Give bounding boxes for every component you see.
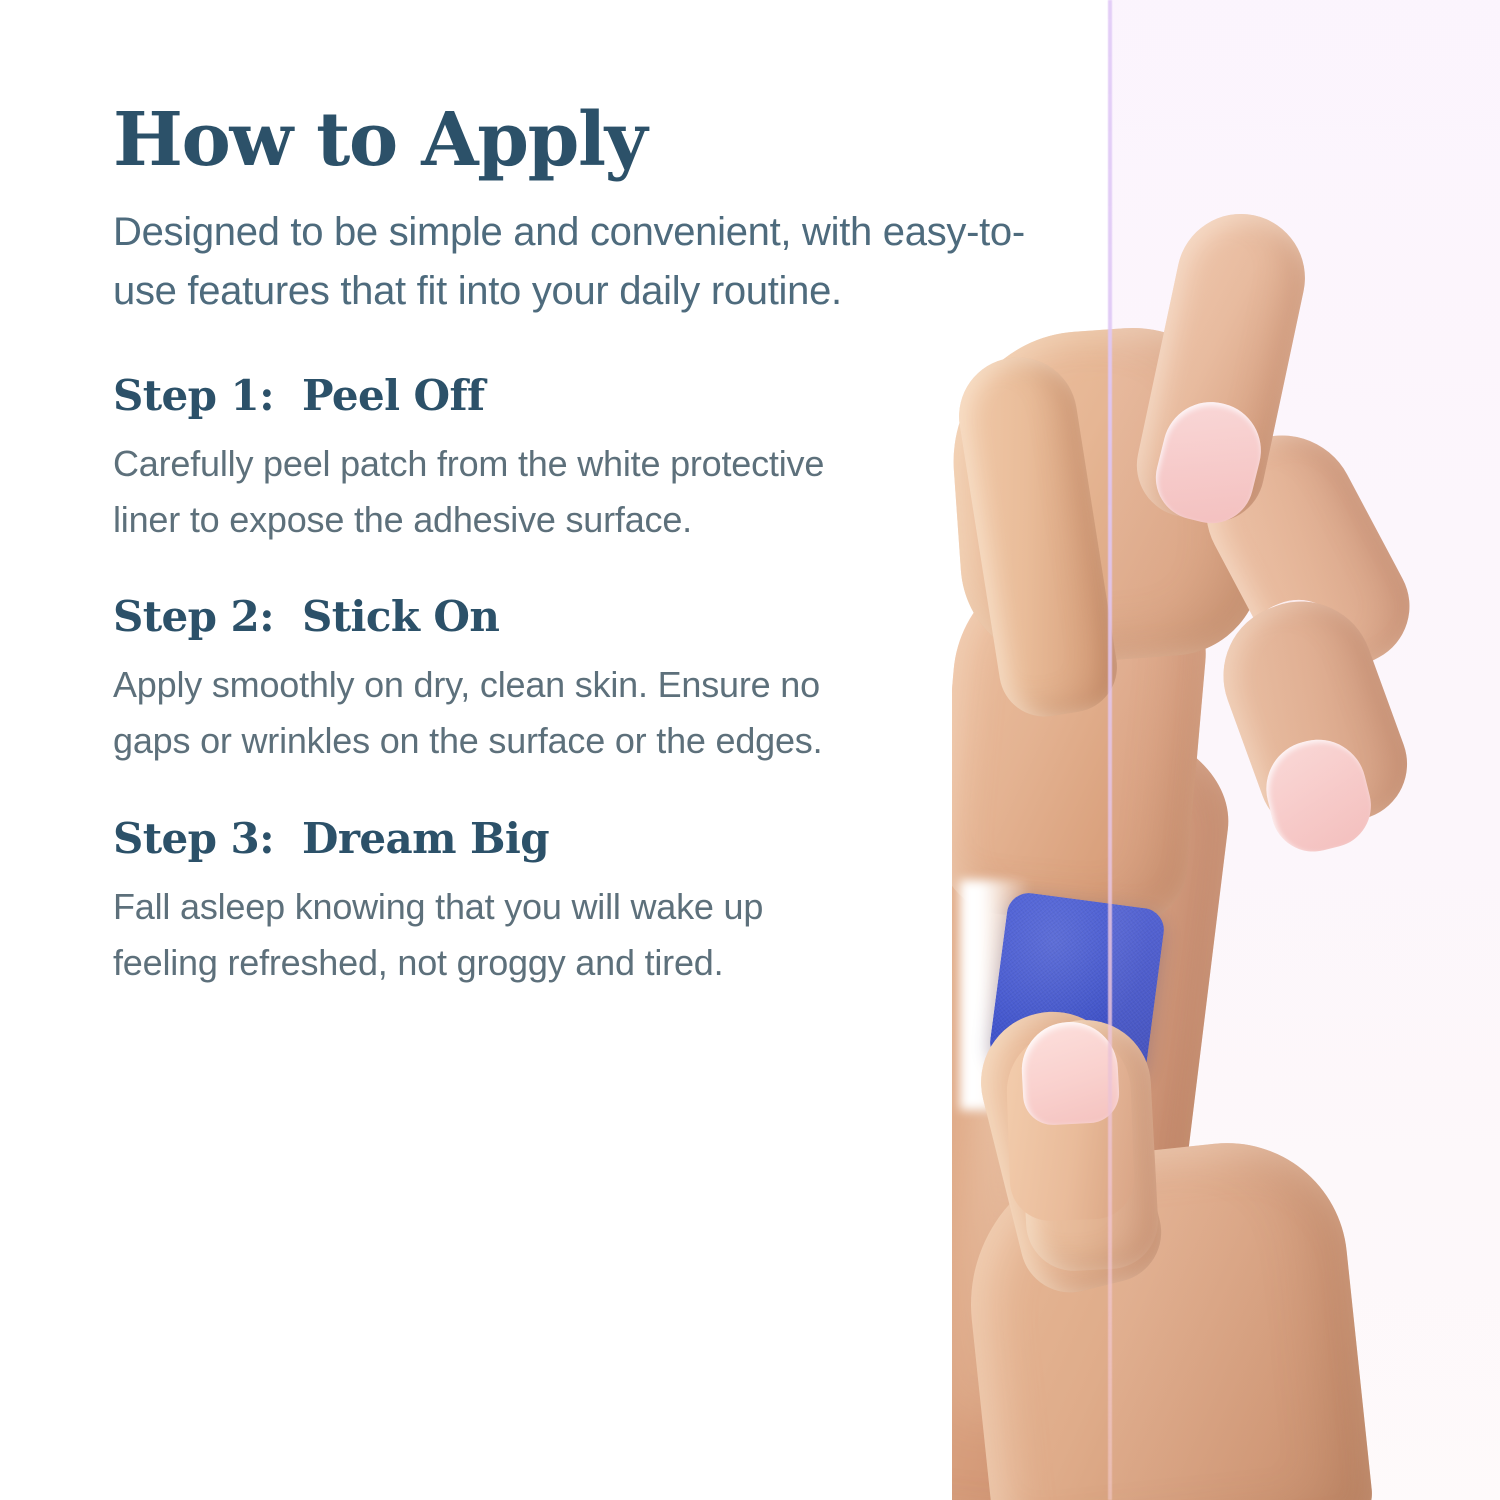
intro-paragraph: Designed to be simple and convenient, wi… bbox=[113, 203, 1038, 321]
step-item-3: Step 3: Dream Big Fall asleep knowing th… bbox=[113, 814, 1043, 991]
step-1-body: Carefully peel patch from the white prot… bbox=[113, 436, 873, 548]
vertical-divider-line bbox=[1108, 0, 1112, 1500]
step-2-title: Step 2: Stick On bbox=[113, 592, 1043, 641]
step-item-1: Step 1: Peel Off Carefully peel patch fr… bbox=[113, 371, 1043, 548]
step-1-title: Step 1: Peel Off bbox=[113, 371, 1043, 420]
page-title: How to Apply bbox=[113, 104, 1043, 177]
step-2-body: Apply smoothly on dry, clean skin. Ensur… bbox=[113, 657, 873, 769]
step-3-title: Step 3: Dream Big bbox=[113, 814, 1043, 863]
content-column: How to Apply Designed to be simple and c… bbox=[113, 104, 1043, 1035]
step-item-2: Step 2: Stick On Apply smoothly on dry, … bbox=[113, 592, 1043, 769]
step-3-body: Fall asleep knowing that you will wake u… bbox=[113, 879, 873, 991]
poster-canvas: How to Apply Designed to be simple and c… bbox=[0, 0, 1500, 1500]
